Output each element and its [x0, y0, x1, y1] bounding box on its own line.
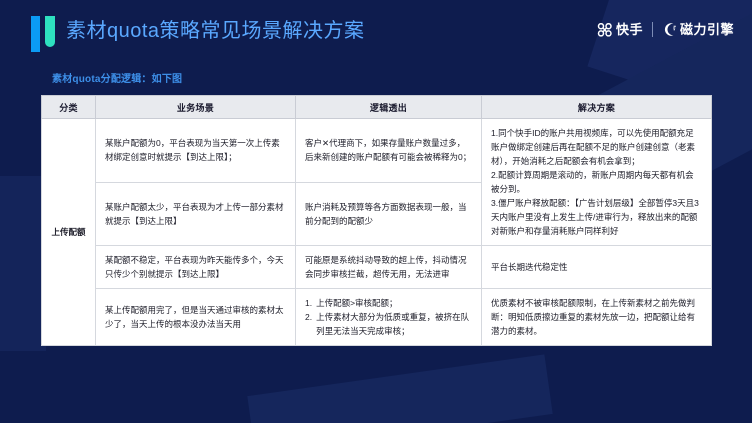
- category-cell-upload-quota: 上传配额: [42, 119, 96, 346]
- quota-table-wrapper: 分类 业务场景 逻辑透出 解决方案 上传配额 某账户配额为0，平台表现为当天第一…: [41, 95, 711, 346]
- logic-cell-row1: 客户✕代理商下，如果存量账户数量过多，后来新创建的账户配额有可能会被稀释为0；: [296, 119, 482, 183]
- cili-crescent-icon: [662, 22, 677, 37]
- solution-cell-row3: 平台长期迭代稳定性: [482, 246, 712, 289]
- logic-list-number: 1.: [305, 296, 312, 310]
- logic-list-item: 1. 上传配额>审核配额；: [305, 296, 472, 310]
- section-subtitle: 素材quota分配逻辑：如下图: [52, 70, 182, 85]
- logic-cell-row2: 账户消耗及预算等各方面数据表现一般，当前分配到的配额少: [296, 182, 482, 246]
- logic-list-text: 上传配额>审核配额；: [316, 296, 472, 310]
- solution-paragraph: 3.僵尸账户释放配额：【广告计划层级】全部暂停3天且3天内账户里没有上发生上传/…: [491, 196, 702, 238]
- table-row: 某配额不稳定，平台表现为昨天能传多个，今天只传少个别就提示【到达上限】 可能原是…: [42, 246, 712, 289]
- accent-bar-teal-icon: [45, 16, 55, 47]
- table-row: 上传配额 某账户配额为0，平台表现为当天第一次上传素材绑定创意时就提示【到达上限…: [42, 119, 712, 183]
- quota-scenarios-table: 分类 业务场景 逻辑透出 解决方案 上传配额 某账户配额为0，平台表现为当天第一…: [41, 95, 712, 346]
- business-cell-row1: 某账户配额为0，平台表现为当天第一次上传素材绑定创意时就提示【到达上限】；: [96, 119, 296, 183]
- kuaishou-logo: 快手: [597, 23, 643, 37]
- decorative-polygon-bottom: [247, 354, 552, 423]
- table-row: 某上传配额用完了，但是当天通过审核的素材太少了，当天上传的根本没办法当天用 1.…: [42, 289, 712, 346]
- slide-root: 素材quota策略常见场景解决方案 快手: [0, 0, 752, 423]
- logic-cell-row3: 可能原是系统抖动导致的超上传，抖动情况会同步审核拦截，超传无用，无法进审: [296, 246, 482, 289]
- logic-list-number: 2.: [305, 310, 312, 338]
- brand-divider: [652, 22, 653, 37]
- solution-paragraph: 2.配额计算周期是滚动的，新账户周期内每天都有机会被分到。: [491, 168, 702, 196]
- cili-wordmark: 磁力引擎: [680, 23, 734, 37]
- brand-lockup: 快手 磁力引擎: [597, 22, 734, 37]
- logic-list-text: 上传素材大部分为低质或重复，被挤在队列里无法当天完成审核；: [316, 310, 472, 338]
- column-header-business: 业务场景: [96, 96, 296, 119]
- business-cell-row3: 某配额不稳定，平台表现为昨天能传多个，今天只传少个别就提示【到达上限】: [96, 246, 296, 289]
- page-title: 素材quota策略常见场景解决方案: [66, 18, 365, 44]
- column-header-solution: 解决方案: [482, 96, 712, 119]
- decorative-band-left: [0, 176, 46, 351]
- slide-header: 素材quota策略常见场景解决方案 快手: [0, 0, 752, 62]
- title-accent-bars: [31, 16, 55, 52]
- column-header-category: 分类: [42, 96, 96, 119]
- kuaishou-wordmark: 快手: [616, 23, 643, 37]
- business-cell-row4: 某上传配额用完了，但是当天通过审核的素材太少了，当天上传的根本没办法当天用: [96, 289, 296, 346]
- table-header-row: 分类 业务场景 逻辑透出 解决方案: [42, 96, 712, 119]
- column-header-logic: 逻辑透出: [296, 96, 482, 119]
- solution-cell-row4: 优质素材不被审核配额限制，在上传新素材之前先做判断：明知低质擦边重复的素材先放一…: [482, 289, 712, 346]
- logic-cell-row4: 1. 上传配额>审核配额； 2. 上传素材大部分为低质或重复，被挤在队列里无法当…: [296, 289, 482, 346]
- business-cell-row2: 某账户配额太少，平台表现为才上传一部分素材就提示【到达上限】: [96, 182, 296, 246]
- solution-cell-row1: 1.同个快手ID的账户共用视频库，可以先使用配额充足账户做绑定创建后再在配额不足…: [482, 119, 712, 246]
- solution-paragraph: 1.同个快手ID的账户共用视频库，可以先使用配额充足账户做绑定创建后再在配额不足…: [491, 126, 702, 168]
- logic-list-item: 2. 上传素材大部分为低质或重复，被挤在队列里无法当天完成审核；: [305, 310, 472, 338]
- accent-bar-blue-icon: [31, 16, 40, 52]
- cili-logo: 磁力引擎: [662, 22, 734, 37]
- kuaishou-mark-icon: [597, 23, 613, 37]
